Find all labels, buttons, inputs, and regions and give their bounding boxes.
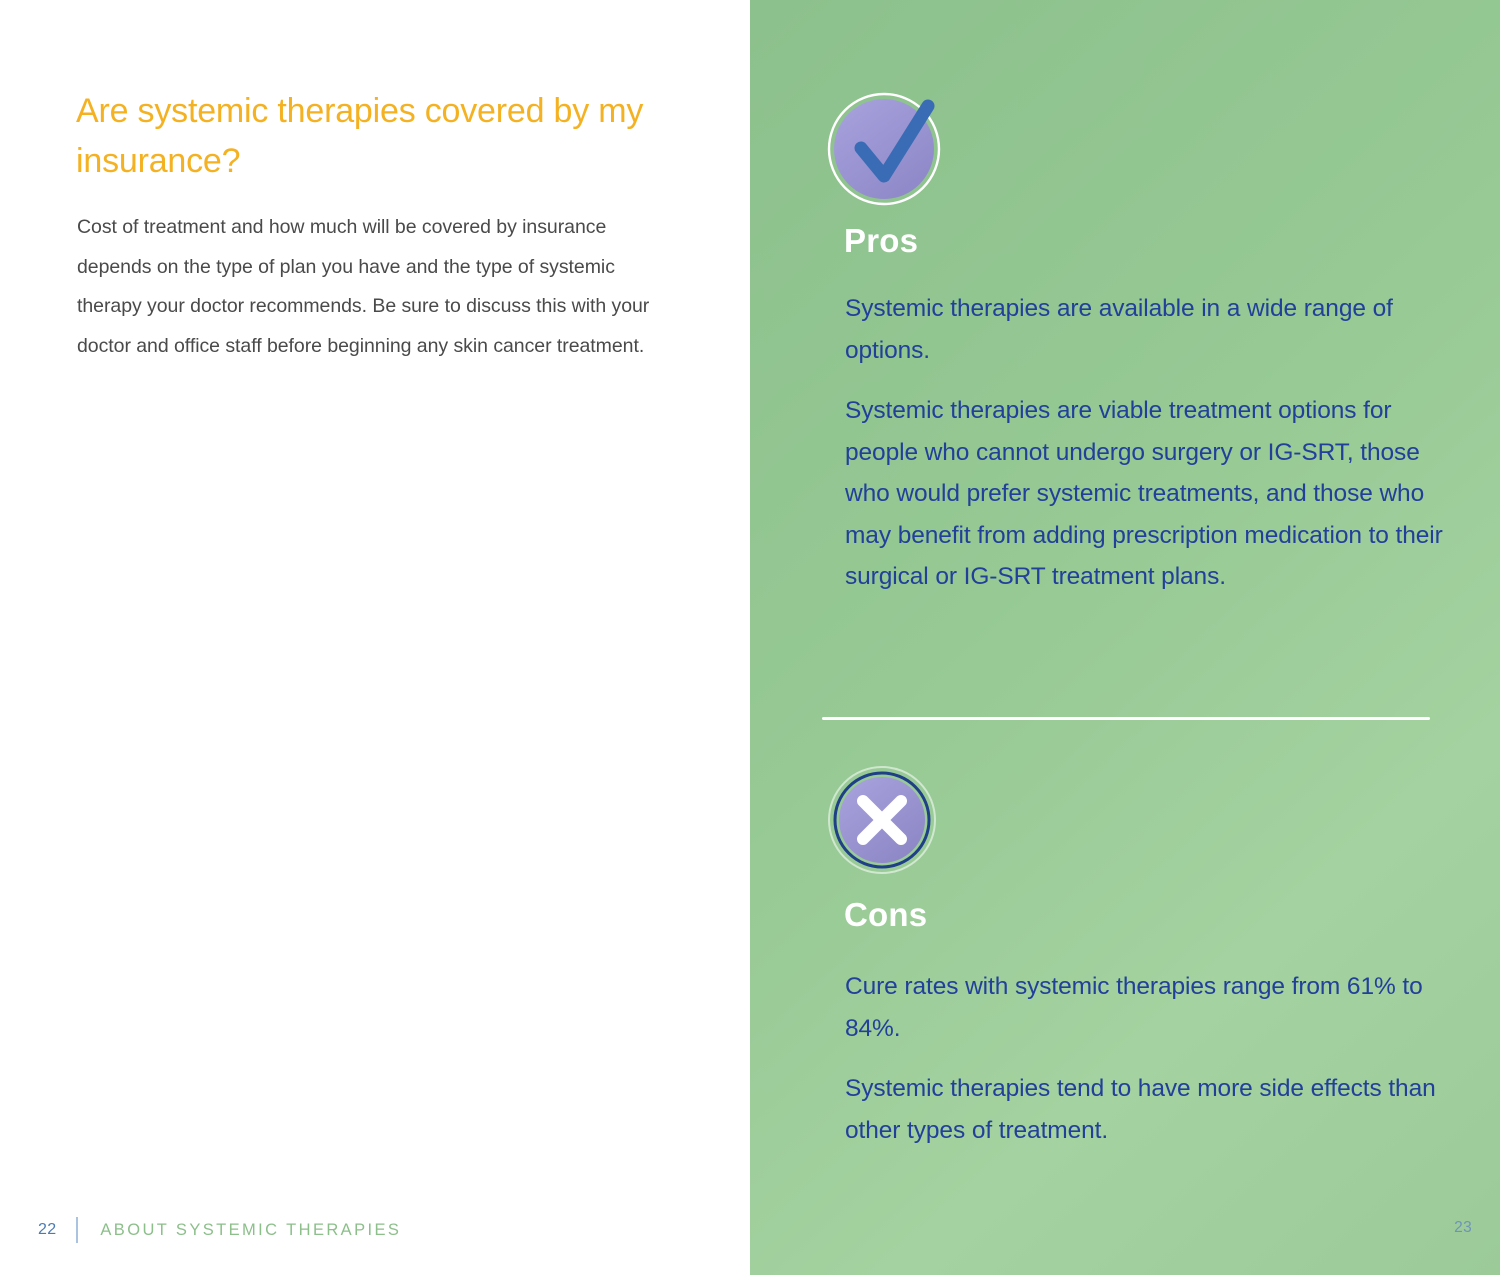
section-divider-rule — [822, 717, 1430, 720]
footer-divider — [76, 1217, 78, 1243]
cons-paragraph-2: Systemic therapies tend to have more sid… — [845, 1068, 1445, 1151]
footer: 22 ABOUT SYSTEMIC THERAPIES — [38, 1215, 401, 1245]
cons-heading: Cons — [844, 896, 927, 934]
page-title: Are systemic therapies covered by my ins… — [76, 86, 656, 186]
footer-page-number-right: 23 — [1454, 1219, 1472, 1237]
cons-paragraph-1: Cure rates with systemic therapies range… — [845, 966, 1445, 1049]
pros-heading: Pros — [844, 222, 918, 260]
pros-paragraph-1: Systemic therapies are available in a wi… — [845, 288, 1445, 371]
left-page: Are systemic therapies covered by my ins… — [0, 0, 750, 1275]
check-circle-icon — [828, 88, 953, 213]
intro-paragraph: Cost of treatment and how much will be c… — [77, 208, 677, 366]
pros-paragraph-2: Systemic therapies are viable treatment … — [845, 390, 1445, 598]
x-circle-icon — [828, 760, 953, 885]
footer-section-label: ABOUT SYSTEMIC THERAPIES — [100, 1221, 401, 1240]
footer-page-number-left: 22 — [38, 1221, 56, 1239]
right-page-green-panel: Pros Systemic therapies are available in… — [750, 0, 1500, 1275]
